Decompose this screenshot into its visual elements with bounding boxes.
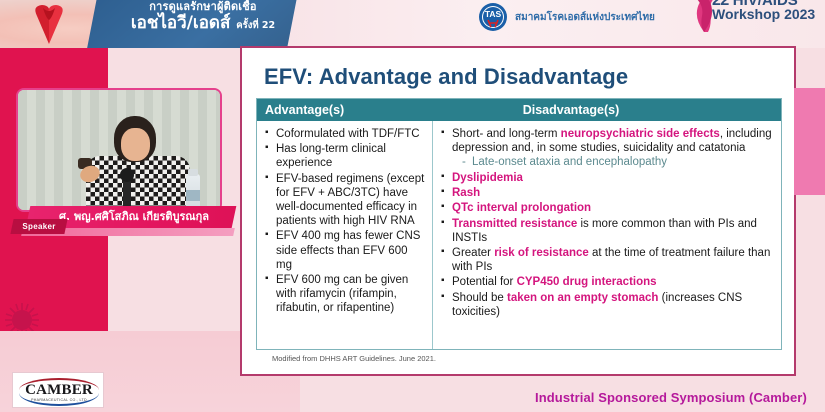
right-pink-tab <box>794 88 825 195</box>
disadvantage-item: Dyslipidemia <box>441 171 773 185</box>
disadvantage-item: Short- and long-term neuropsychiatric si… <box>441 127 773 170</box>
symposium-label: Industrial Sponsored Symposium (Camber) <box>535 390 807 405</box>
advantage-item: Coformulated with TDF/FTC <box>265 127 426 141</box>
disadvantage-sublist: Late-onset ataxia and encephalopathy <box>462 155 773 170</box>
speaker-badge-label: Speaker <box>12 219 66 234</box>
sponsor-logo-name: CAMBER <box>13 382 104 399</box>
disadvantages-cell: Short- and long-term neuropsychiatric si… <box>433 121 781 349</box>
sponsor-logo-subtitle: PHARMACEUTICAL CO., LTD <box>13 398 104 402</box>
disadvantage-item: Potential for CYP450 drug interactions <box>441 275 773 289</box>
banner-thai-line2-text: เอชไอวี/เอดส์ <box>131 13 231 33</box>
speaker-face <box>121 128 150 161</box>
svg-text:TAS: TAS <box>485 9 502 19</box>
banner-thai-line1: การดูแลรักษาผู้ติดเชื้อ <box>108 1 298 13</box>
highlighted-term: Transmitted resistance <box>452 218 577 230</box>
speaker-name: ศ. พญ.ศศิโสภิณ เกียรติบูรณกุล <box>38 208 230 226</box>
column-header-advantages: Advantage(s) <box>257 99 433 121</box>
highlighted-term: QTc interval prolongation <box>452 202 591 214</box>
highlighted-term: taken on an empty stomach <box>507 292 658 304</box>
disadvantage-item: Rash <box>441 186 773 200</box>
aids-ribbon-icon <box>22 2 76 46</box>
speaker-video[interactable] <box>16 88 222 212</box>
speaker-badge: Speaker <box>10 219 67 234</box>
highlighted-term: risk of resistance <box>494 247 589 259</box>
advantage-item: EFV 400 mg has fewer CNS side effects th… <box>265 229 426 272</box>
sponsor-logo: CAMBER PHARMACEUTICAL CO., LTD <box>12 372 104 408</box>
workshop-subtitle: Workshop 2023 <box>712 7 815 21</box>
microphone-head-icon <box>120 168 134 182</box>
advantage-item: EFV-based regimens (except for EFV + ABC… <box>265 172 426 229</box>
highlighted-term: CYP450 drug interactions <box>517 276 657 288</box>
table-header-row: Advantage(s) Disadvantage(s) <box>257 99 781 121</box>
advantages-cell: Coformulated with TDF/FTCHas long-term c… <box>257 121 433 349</box>
presentation-screen: การดูแลรักษาผู้ติดเชื้อ เอชไอวี/เอดส์ คร… <box>0 0 825 412</box>
slide-title: EFV: Advantage and Disadvantage <box>264 64 628 90</box>
disadvantage-item: QTc interval prolongation <box>441 201 773 215</box>
disadvantage-item: Greater risk of resistance at the time o… <box>441 246 773 274</box>
slide-source-note: Modified from DHHS ART Guidelines. June … <box>272 354 436 363</box>
banner-thai-line2: เอชไอวี/เอดส์ ครั้งที่ 22 <box>108 15 298 33</box>
speaker-body <box>86 156 190 212</box>
workshop-logo-text: 22HIV/AIDS Workshop 2023 <box>712 0 815 22</box>
disadvantage-subitem: Late-onset ataxia and encephalopathy <box>462 155 773 170</box>
disadvantages-list: Short- and long-term neuropsychiatric si… <box>441 127 773 319</box>
disadvantage-item: Transmitted resistance is more common th… <box>441 217 773 245</box>
banner-thai-title: การดูแลรักษาผู้ติดเชื้อ เอชไอวี/เอดส์ คร… <box>108 1 298 47</box>
table-body: Coformulated with TDF/FTCHas long-term c… <box>257 121 781 349</box>
advantage-item: EFV 600 mg can be given with rifamycin (… <box>265 273 426 316</box>
highlighted-term: neuropsychiatric side effects <box>561 128 720 140</box>
highlighted-term: Dyslipidemia <box>452 172 523 184</box>
water-bottle-label <box>186 190 200 201</box>
water-bottle-cap <box>188 169 198 176</box>
tas-society-block: TAS สมาคมโรคเอดส์แห่งประเทศไทย <box>478 2 655 32</box>
highlighted-term: Rash <box>452 187 480 199</box>
advantage-disadvantage-table: Advantage(s) Disadvantage(s) Coformulate… <box>256 98 782 350</box>
disadvantage-item: Should be taken on an empty stomach (inc… <box>441 291 773 319</box>
banner-thai-edition: ครั้งที่ 22 <box>236 20 275 31</box>
advantage-item: Has long-term clinical experience <box>265 142 426 170</box>
slide-content: EFV: Advantage and Disadvantage Advantag… <box>240 46 796 376</box>
advantages-list: Coformulated with TDF/FTCHas long-term c… <box>265 127 426 316</box>
tas-logo-icon: TAS <box>478 2 508 32</box>
column-header-disadvantages: Disadvantage(s) <box>433 99 781 121</box>
tas-society-name: สมาคมโรคเอดส์แห่งประเทศไทย <box>515 10 655 25</box>
event-banner: การดูแลรักษาผู้ติดเชื้อ เอชไอวี/เอดส์ คร… <box>0 0 825 48</box>
